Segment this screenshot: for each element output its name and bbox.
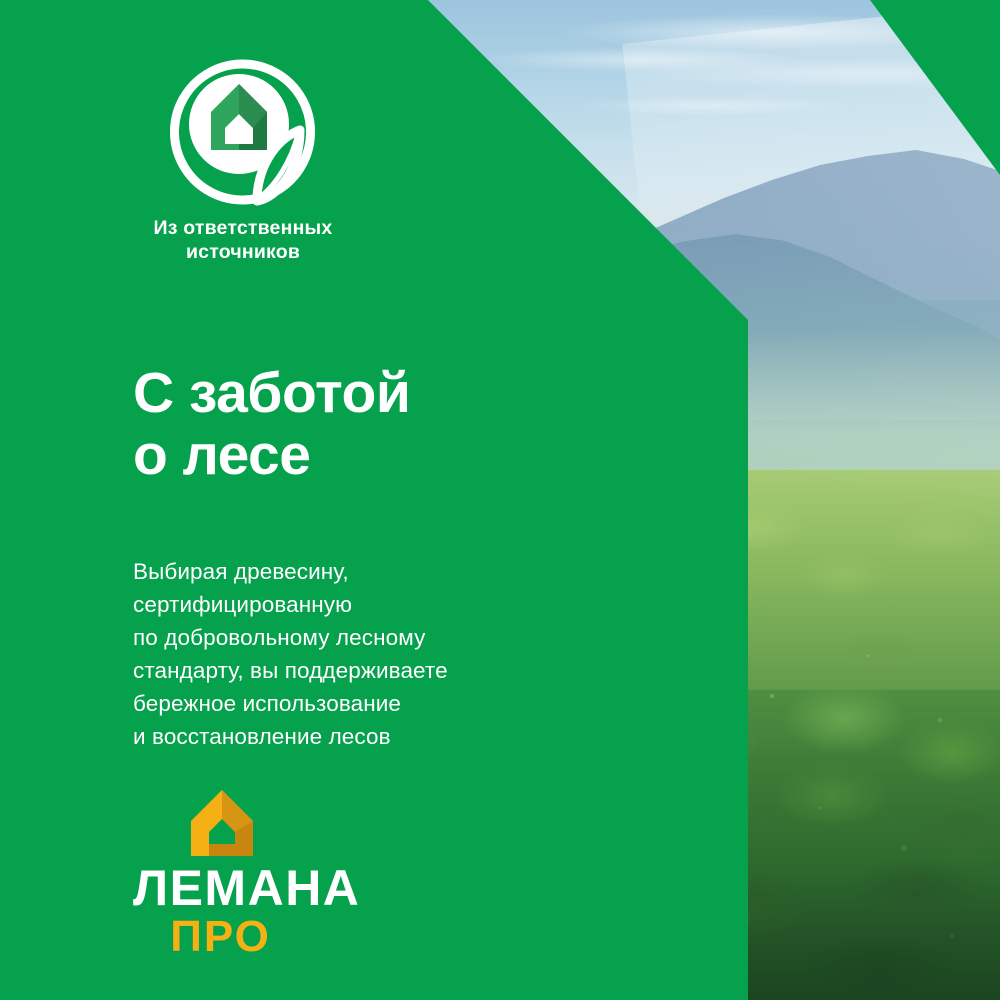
house-leaf-circle-icon <box>169 58 317 206</box>
certification-badge: Из ответственных источников <box>133 58 353 265</box>
house-logo-icon <box>185 788 259 858</box>
poster-root: Из ответственных источников С заботой о … <box>0 0 1000 1000</box>
brand-sub-name: ПРО <box>133 915 308 959</box>
certification-caption: Из ответственных источников <box>133 217 353 265</box>
brand-lockup: ЛЕМАНА ПРО <box>133 788 363 959</box>
poster-content: Из ответственных источников С заботой о … <box>0 0 1000 1000</box>
brand-name: ЛЕМАНА <box>133 864 363 913</box>
body-paragraph: Выбирая древесину, сертифицированную по … <box>133 555 448 753</box>
page-title: С заботой о лесе <box>133 363 410 486</box>
